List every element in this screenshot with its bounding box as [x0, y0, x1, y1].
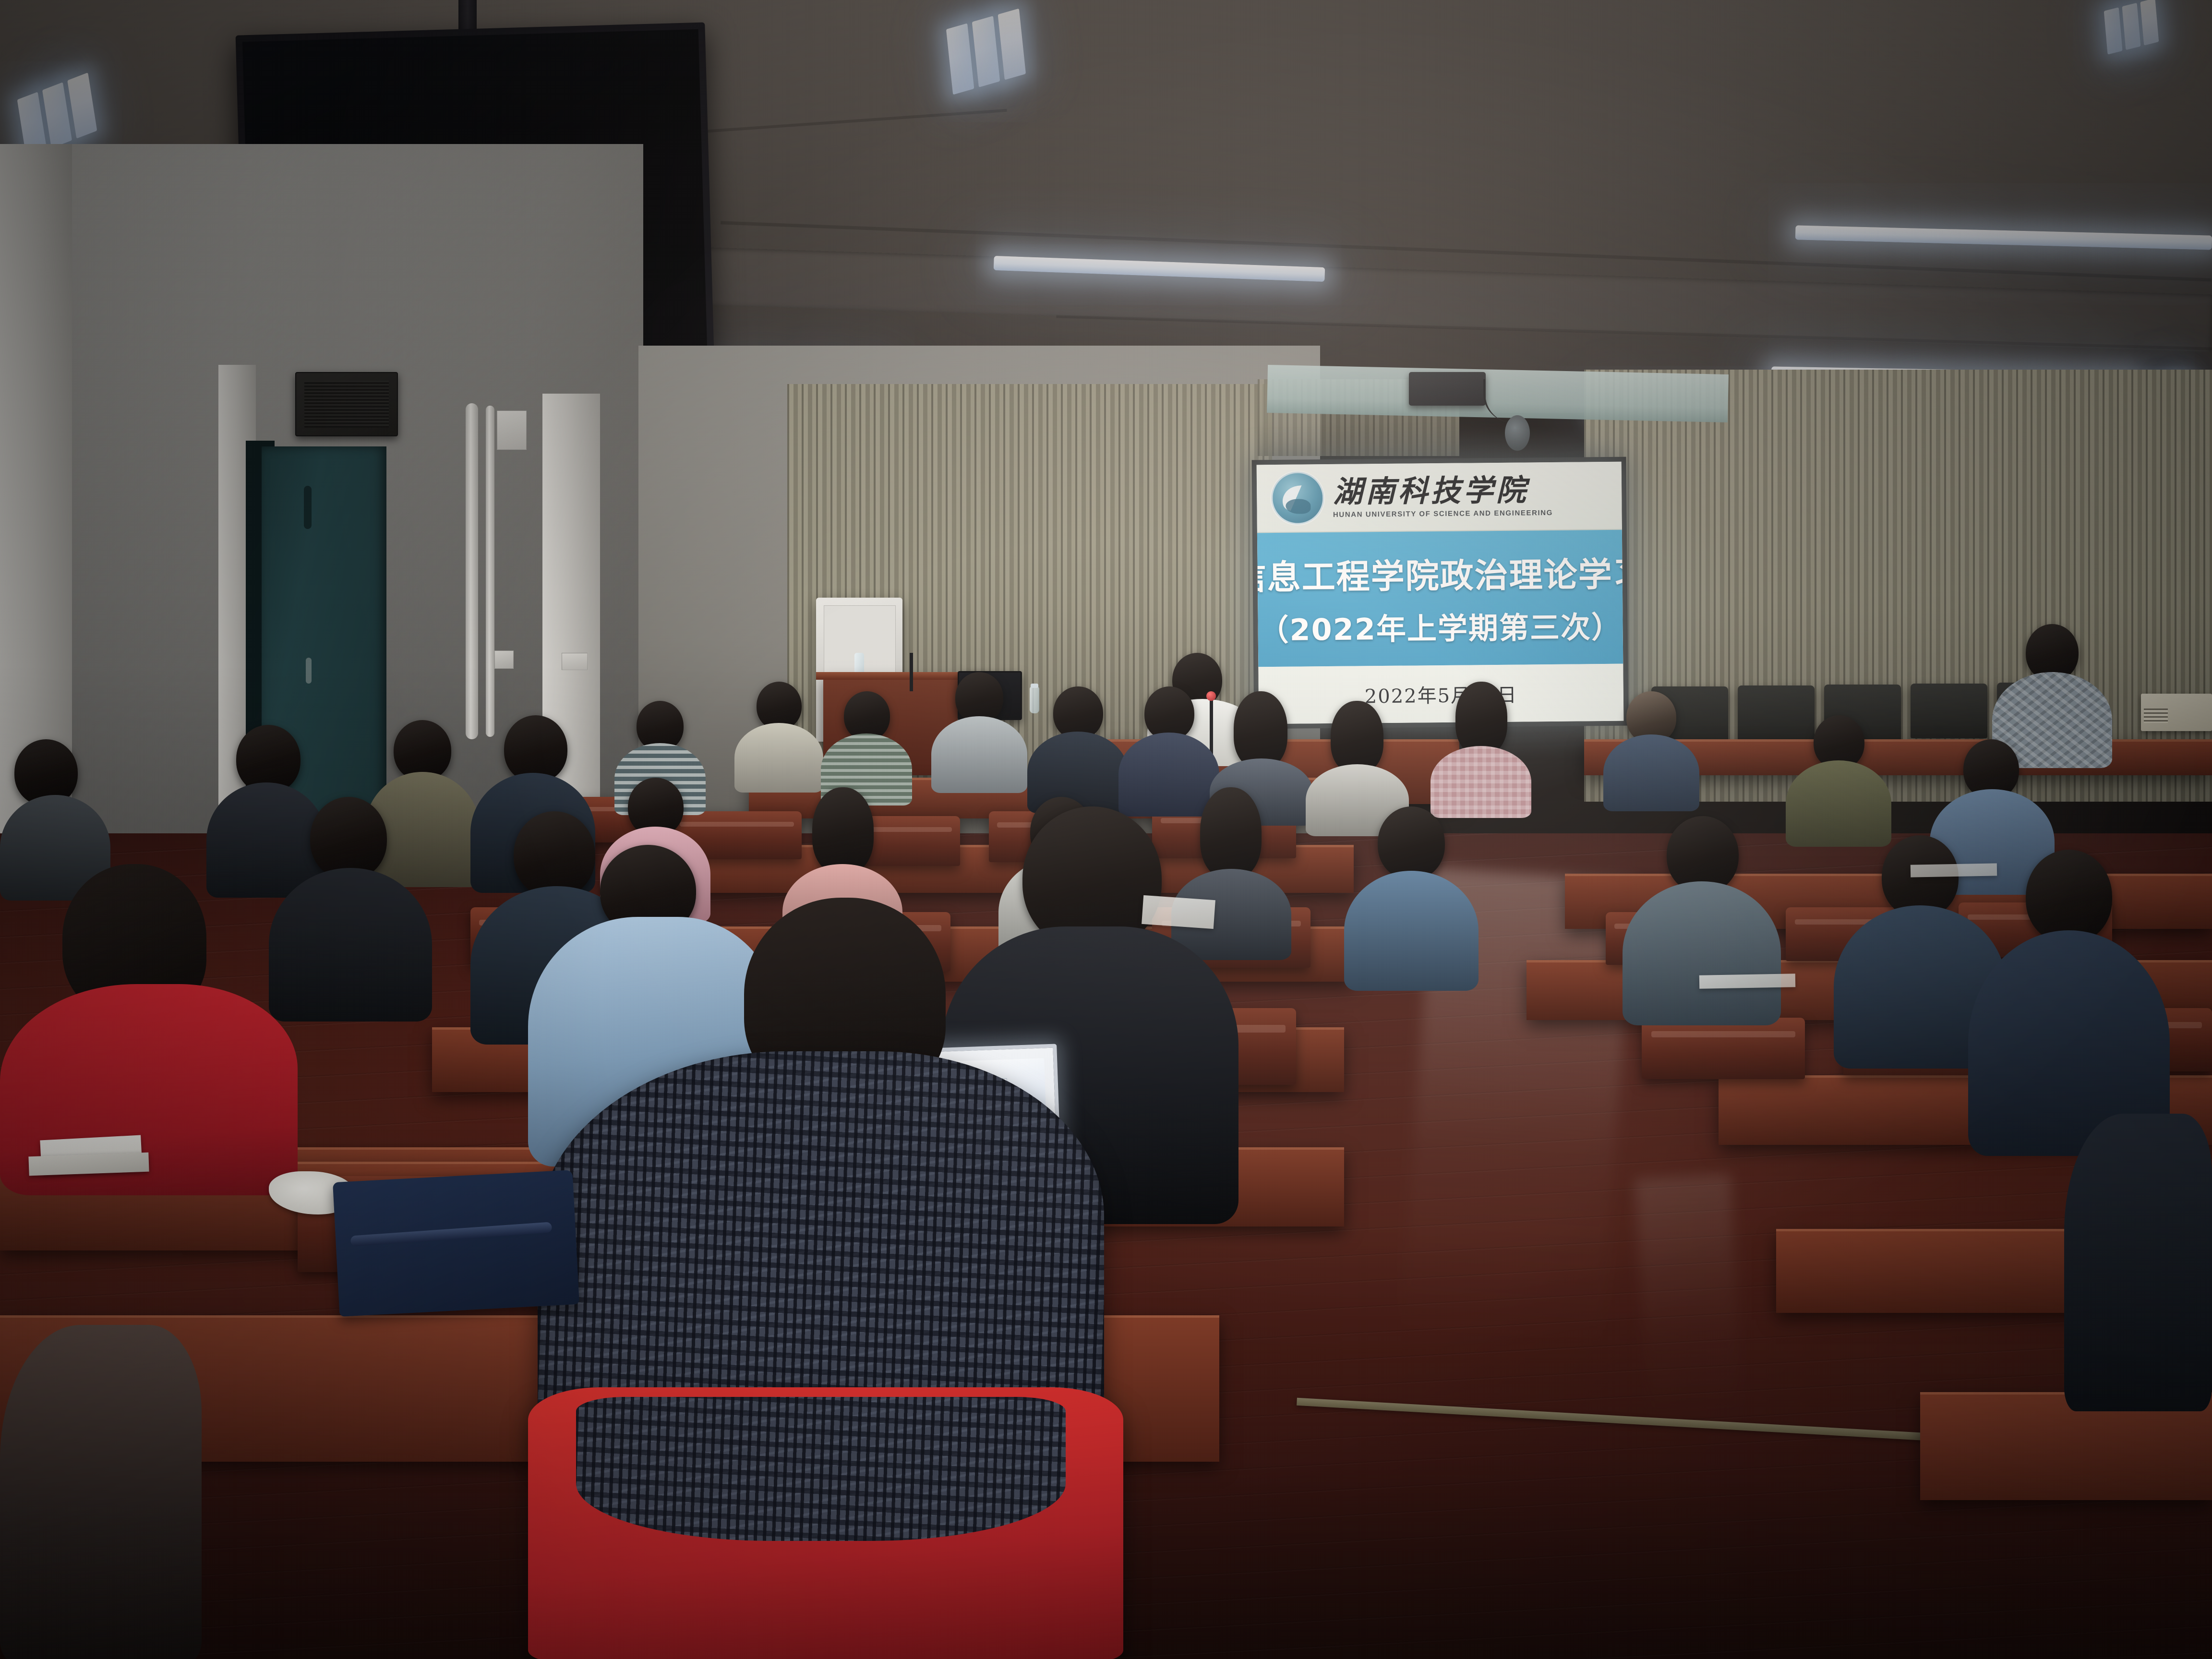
person-camo-hem	[576, 1397, 1066, 1541]
person-head	[310, 797, 387, 879]
paper-on-desk[interactable]	[1911, 863, 1997, 877]
person-torso	[1623, 881, 1781, 1025]
attendee-pink-check	[1431, 682, 1531, 806]
person-torso	[1344, 871, 1479, 991]
chair-back[interactable]	[1642, 1018, 1805, 1079]
attendee-blue-midrow	[1344, 806, 1479, 979]
person-head	[504, 715, 567, 782]
person-head	[812, 787, 874, 874]
person-torso	[0, 1325, 202, 1659]
person-head	[844, 691, 890, 740]
attendee-light-top	[734, 682, 823, 778]
lectern-microphone-stand	[910, 653, 913, 691]
person-head	[1378, 806, 1445, 879]
person-torso	[269, 868, 432, 1022]
attendee-bald-blue	[1603, 691, 1699, 802]
attendee-dark-center	[1027, 686, 1128, 799]
person-torso	[2064, 1114, 2212, 1411]
person-head	[757, 682, 802, 730]
person-torso	[931, 716, 1027, 793]
person-head	[1234, 691, 1287, 768]
attendee-standing-print	[1992, 624, 2112, 758]
attendee-navy-right	[1968, 850, 2170, 1147]
attendee-striped-green	[821, 691, 912, 792]
back-chair[interactable]	[1911, 684, 1987, 738]
person-head	[2026, 850, 2112, 943]
person-head	[1455, 682, 1507, 755]
attendee-dark-right-front	[2064, 1114, 2212, 1411]
person-head	[1331, 701, 1383, 773]
person-torso	[1603, 734, 1699, 811]
attendee-dark-jacket-left	[269, 797, 432, 1013]
attendee-lightgrey-front	[931, 672, 1027, 780]
attendee-camo-hoodie-red	[518, 898, 1152, 1659]
equipment-box	[2141, 694, 2212, 731]
lecture-hall-photo: 湖南科技学院 HUNAN UNIVERSITY OF SCIENCE AND E…	[0, 0, 2212, 1659]
attendee-foreground-left	[0, 1325, 202, 1659]
paper-on-desk[interactable]	[1142, 895, 1215, 929]
paper-on-desk[interactable]	[1699, 974, 1795, 988]
attendee-navy-vest	[1118, 686, 1219, 802]
equipment-box-vents	[2144, 709, 2168, 723]
attendee-white-top	[1306, 701, 1409, 823]
person-head	[955, 672, 1003, 723]
attendee-olive-right	[1786, 715, 1891, 835]
person-torso	[734, 723, 823, 793]
person-torso	[1786, 760, 1891, 847]
